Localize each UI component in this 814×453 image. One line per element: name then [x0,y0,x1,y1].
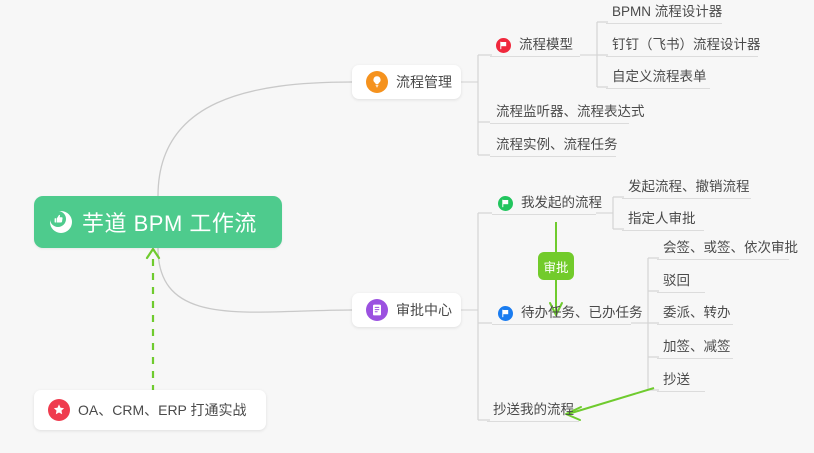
node-label-my-started: 我发起的流程 [521,195,602,211]
node-label-assignee-approve: 指定人审批 [628,211,696,227]
node-assignee-approve[interactable]: 指定人审批 [622,213,704,231]
branch-approval-center[interactable]: 审批中心 [352,293,461,327]
node-cc-to-me[interactable]: 抄送我的流程 [487,404,579,422]
node-label-process-model: 流程模型 [519,37,573,53]
node-start-cancel[interactable]: 发起流程、撤销流程 [622,181,751,199]
node-label-reject: 驳回 [663,273,690,289]
node-cc[interactable]: 抄送 [657,374,705,392]
clipboard-icon [366,299,388,321]
mindmap-canvas: 芋道 BPM 工作流 OA、CRM、ERP 打通实战 流程管理 [0,0,814,453]
approval-annotation-label: 审批 [543,257,568,276]
dashed-green-arrow [147,249,159,392]
node-label-delegate-transfer: 委派、转办 [663,305,731,321]
approval-annotation-chip: 审批 [538,252,574,280]
node-label-start-cancel: 发起流程、撤销流程 [628,179,750,195]
branch-label-approval-center: 审批中心 [396,300,452,320]
node-label-cc: 抄送 [663,372,690,388]
node-label-multi-sign: 会签、或签、依次审批 [663,240,798,256]
node-my-started[interactable]: 我发起的流程 [492,197,596,215]
red-flag-icon [496,38,511,53]
node-dingtalk-designer[interactable]: 钉钉（飞书）流程设计器 [606,39,758,57]
footnote-node[interactable]: OA、CRM、ERP 打通实战 [34,390,266,430]
node-label-listener-expression: 流程监听器、流程表达式 [496,104,645,120]
root-label: 芋道 BPM 工作流 [82,206,257,238]
node-reject[interactable]: 驳回 [657,275,705,293]
wire-root-to-process-management [158,82,352,196]
node-label-bpmn-designer: BPMN 流程设计器 [612,4,722,20]
node-label-cc-to-me: 抄送我的流程 [493,402,574,418]
node-todo-done[interactable]: 待办任务、已办任务 [492,307,631,325]
node-instance-task[interactable]: 流程实例、流程任务 [490,139,616,157]
green-flag-icon [498,196,513,211]
branch-process-management[interactable]: 流程管理 [352,65,461,99]
lightbulb-icon [366,71,388,93]
blue-flag-icon [498,306,513,321]
node-custom-form[interactable]: 自定义流程表单 [606,71,710,89]
node-multi-sign[interactable]: 会签、或签、依次审批 [657,242,789,260]
node-add-remove-sign[interactable]: 加签、减签 [657,341,733,359]
node-label-add-remove-sign: 加签、减签 [663,339,731,355]
node-delegate-transfer[interactable]: 委派、转办 [657,307,733,325]
node-label-custom-form: 自定义流程表单 [612,69,707,85]
node-label-dingtalk-designer: 钉钉（飞书）流程设计器 [612,37,761,53]
thumbs-up-icon [50,211,72,233]
node-bpmn-designer[interactable]: BPMN 流程设计器 [606,6,722,24]
node-listener-expression[interactable]: 流程监听器、流程表达式 [490,106,629,124]
cc-flow-arrow [566,388,654,420]
star-icon [48,399,70,421]
wire-root-to-approval-center [158,248,352,312]
root-node[interactable]: 芋道 BPM 工作流 [34,196,282,248]
branch-label-process-management: 流程管理 [396,72,452,92]
node-label-todo-done: 待办任务、已办任务 [521,305,643,321]
node-label-instance-task: 流程实例、流程任务 [496,137,618,153]
footnote-label: OA、CRM、ERP 打通实战 [78,400,247,420]
node-process-model[interactable]: 流程模型 [490,39,580,57]
